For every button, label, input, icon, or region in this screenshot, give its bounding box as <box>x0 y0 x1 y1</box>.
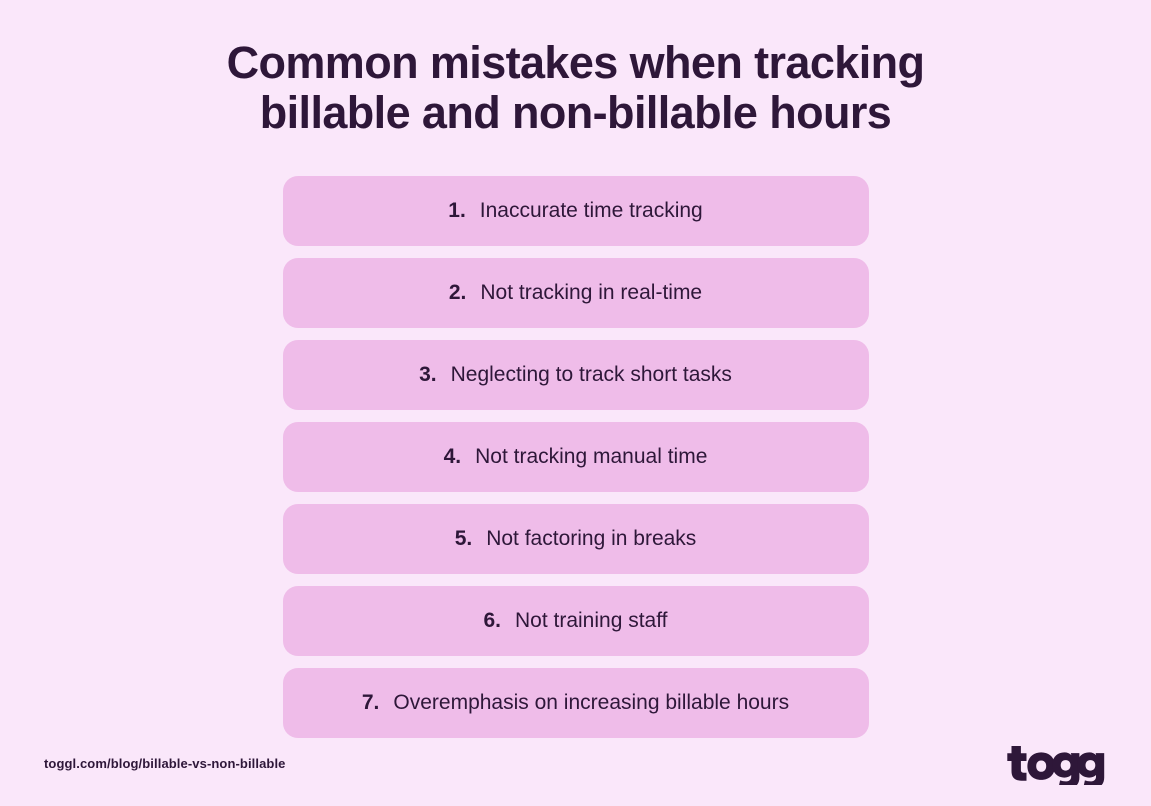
infographic-root: Common mistakes when tracking billable a… <box>0 0 1151 806</box>
list-item-content: 3. Neglecting to track short tasks <box>419 363 732 387</box>
list-item: 5. Not factoring in breaks <box>283 504 869 574</box>
list-item: 6. Not training staff <box>283 586 869 656</box>
list-item-label: Inaccurate time tracking <box>480 199 703 223</box>
list-item-number: 6. <box>483 609 501 633</box>
footer: toggl.com/blog/billable-vs-non-billable <box>0 720 1151 806</box>
source-url: toggl.com/blog/billable-vs-non-billable <box>44 756 286 771</box>
list-item-number: 5. <box>455 527 473 551</box>
page-title-line-1: Common mistakes when tracking <box>0 38 1151 88</box>
list-item-label: Not tracking in real-time <box>480 281 702 305</box>
page-title: Common mistakes when tracking billable a… <box>0 0 1151 138</box>
list-item-number: 2. <box>449 281 467 305</box>
list-item-number: 3. <box>419 363 437 387</box>
list-item-content: 7. Overemphasis on increasing billable h… <box>362 691 789 715</box>
list-item-content: 2. Not tracking in real-time <box>449 281 702 305</box>
list-item: 4. Not tracking manual time <box>283 422 869 492</box>
list-item-content: 5. Not factoring in breaks <box>455 527 697 551</box>
list-item-label: Not factoring in breaks <box>486 527 696 551</box>
list-item-content: 1. Inaccurate time tracking <box>448 199 702 223</box>
list-item-label: Neglecting to track short tasks <box>451 363 732 387</box>
list-item: 1. Inaccurate time tracking <box>283 176 869 246</box>
list-item-number: 1. <box>448 199 466 223</box>
toggl-logo <box>1003 741 1107 785</box>
page-title-line-2: billable and non-billable hours <box>0 88 1151 138</box>
list-item-label: Not tracking manual time <box>475 445 707 469</box>
list-item-label: Not training staff <box>515 609 668 633</box>
list-item-number: 4. <box>444 445 462 469</box>
list-item: 3. Neglecting to track short tasks <box>283 340 869 410</box>
list-item-number: 7. <box>362 691 380 715</box>
mistakes-list: 1. Inaccurate time tracking 2. Not track… <box>0 176 1151 738</box>
list-item-label: Overemphasis on increasing billable hour… <box>393 691 789 715</box>
list-item-content: 6. Not training staff <box>483 609 667 633</box>
list-item: 2. Not tracking in real-time <box>283 258 869 328</box>
list-item-content: 4. Not tracking manual time <box>444 445 708 469</box>
